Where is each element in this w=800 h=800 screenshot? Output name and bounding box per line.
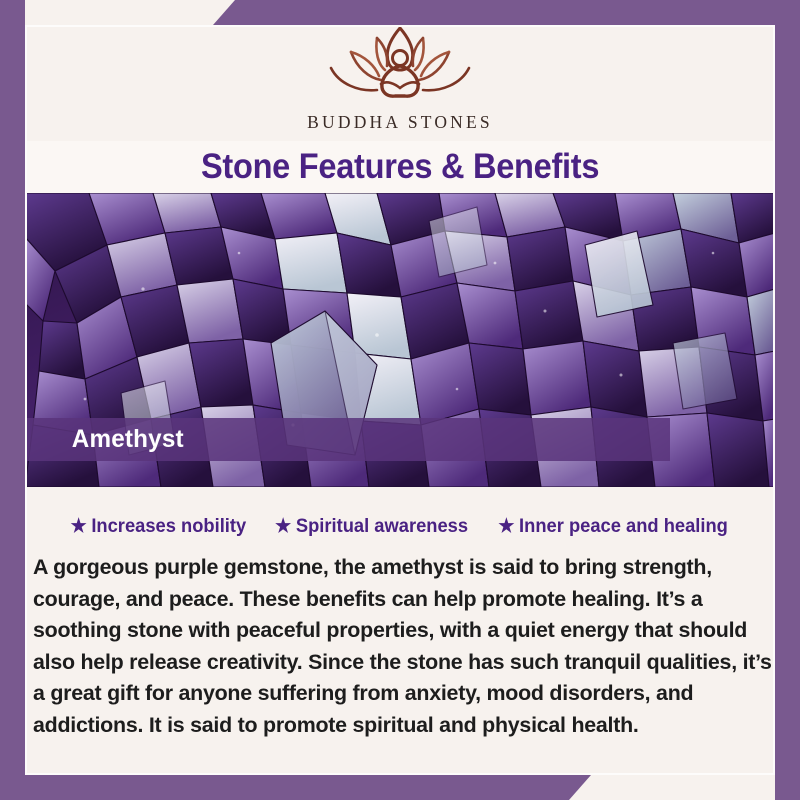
stone-name: Amethyst <box>72 425 184 454</box>
feature-item: ★ Increases nobility <box>70 515 246 538</box>
frame-band-right <box>775 0 800 800</box>
title-banner: Stone Features & Benefits <box>25 141 775 193</box>
infographic-card: BUDDHA STONES Stone Features & Benefits <box>0 0 800 800</box>
feature-list: ★ Increases nobility ★ Spiritual awarene… <box>25 505 775 547</box>
star-icon: ★ <box>70 517 86 536</box>
brand-logo: BUDDHA STONES <box>25 22 775 142</box>
frame-band-left <box>0 0 25 800</box>
page-title: Stone Features & Benefits <box>201 147 599 187</box>
feature-label: Increases nobility <box>91 515 246 538</box>
frame-band-top <box>213 0 800 25</box>
hero-image: Amethyst <box>25 193 775 487</box>
feature-item: ★ Inner peace and healing <box>498 515 728 538</box>
star-icon: ★ <box>275 517 291 536</box>
brand-name: BUDDHA STONES <box>307 112 493 133</box>
frame-band-bottom <box>0 775 591 800</box>
card-content: BUDDHA STONES Stone Features & Benefits <box>25 0 775 800</box>
lotus-meditation-figure-icon <box>315 22 485 110</box>
feature-label: Spiritual awareness <box>296 515 468 538</box>
feature-label: Inner peace and healing <box>519 515 728 538</box>
star-icon: ★ <box>498 517 514 536</box>
feature-item: ★ Spiritual awareness <box>275 515 468 538</box>
stone-name-banner: Amethyst <box>25 418 670 461</box>
description-text: A gorgeous purple gemstone, the amethyst… <box>33 552 781 741</box>
